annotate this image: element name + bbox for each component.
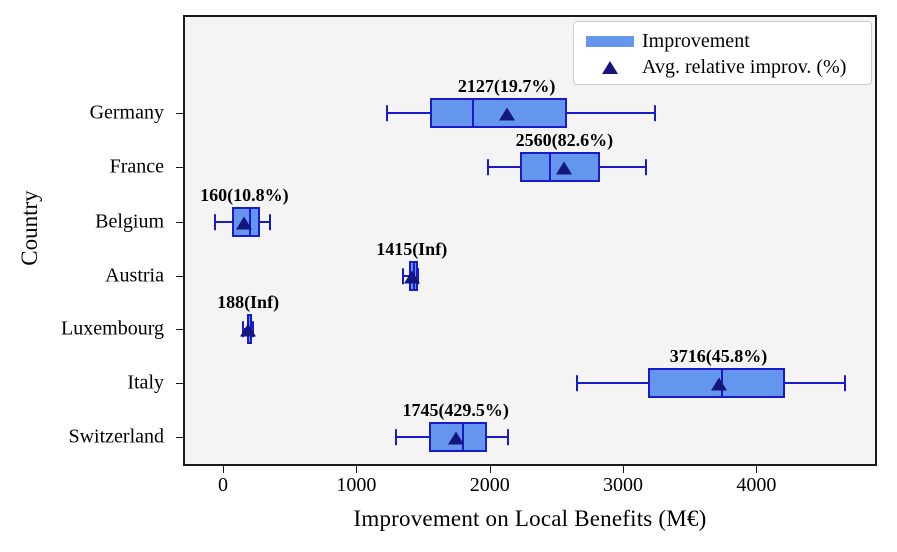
whisker-low-line	[215, 221, 232, 223]
x-tick-label: 3000	[583, 474, 663, 497]
x-tick-label: 1000	[316, 474, 396, 497]
y-tick-label-luxembourg: Luxembourg	[0, 318, 164, 341]
whisker-high-line	[567, 112, 655, 114]
mean-marker-triangle-icon	[236, 217, 252, 230]
whisker-low-cap	[386, 105, 388, 121]
whisker-high-line	[600, 166, 646, 168]
y-tick	[176, 437, 183, 438]
legend-label-avg-relative-improv: Avg. relative improv. (%)	[642, 56, 846, 79]
mean-marker-triangle-icon	[556, 162, 572, 175]
whisker-low-cap	[214, 214, 216, 230]
legend-label-improvement: Improvement	[642, 30, 750, 53]
mean-marker-triangle-icon	[499, 108, 515, 121]
whisker-low-cap	[576, 375, 578, 391]
y-tick	[176, 276, 183, 277]
box-annotation-luxembourg: 188(Inf)	[118, 292, 378, 313]
x-tick-label: 2000	[450, 474, 530, 497]
box-annotation-switzerland: 1745(429.5%)	[326, 400, 586, 421]
x-tick-label: 0	[183, 474, 263, 497]
mean-marker-triangle-icon	[240, 324, 256, 337]
legend-item-improvement: Improvement	[586, 28, 861, 54]
legend-bar-swatch-icon	[586, 36, 634, 47]
whisker-high-line	[487, 436, 508, 438]
whisker-high-cap	[654, 105, 656, 121]
whisker-low-cap	[395, 429, 397, 445]
median-line	[472, 98, 474, 128]
box-annotation-belgium: 160(10.8%)	[114, 185, 374, 206]
box-annotation-austria: 1415(Inf)	[282, 239, 542, 260]
whisker-low-line	[387, 112, 430, 114]
x-tick	[756, 466, 757, 473]
x-tick	[356, 466, 357, 473]
x-tick	[490, 466, 491, 473]
y-tick-label-germany: Germany	[0, 102, 164, 125]
y-tick	[176, 222, 183, 223]
y-axis-label: Country	[17, 148, 43, 308]
y-tick	[176, 167, 183, 168]
y-tick-label-italy: Italy	[0, 372, 164, 395]
whisker-low-line	[488, 166, 520, 168]
whisker-low-line	[577, 382, 648, 384]
chart-legend: Improvement Avg. relative improv. (%)	[573, 21, 872, 85]
whisker-low-cap	[487, 159, 489, 175]
whisker-high-cap	[269, 214, 271, 230]
y-tick	[176, 113, 183, 114]
x-tick-label: 4000	[716, 474, 796, 497]
mean-marker-triangle-icon	[711, 378, 727, 391]
y-tick-label-switzerland: Switzerland	[0, 426, 164, 449]
x-tick	[223, 466, 224, 473]
mean-marker-triangle-icon	[448, 432, 464, 445]
whisker-high-cap	[645, 159, 647, 175]
box-annotation-france: 2560(82.6%)	[434, 130, 694, 151]
mean-marker-triangle-icon	[404, 271, 420, 284]
legend-item-avg-relative-improv: Avg. relative improv. (%)	[586, 54, 861, 80]
box-annotation-italy: 3716(45.8%)	[589, 346, 849, 367]
whisker-high-cap	[844, 375, 846, 391]
y-tick	[176, 383, 183, 384]
y-tick	[176, 329, 183, 330]
whisker-high-cap	[507, 429, 509, 445]
x-tick	[623, 466, 624, 473]
legend-triangle-swatch-icon	[586, 61, 634, 74]
whisker-low-line	[396, 436, 429, 438]
median-line	[549, 152, 551, 182]
x-axis-label: Improvement on Local Benefits (M€)	[183, 506, 877, 532]
boxplot-figure: 01000200030004000GermanyFranceBelgiumAus…	[0, 0, 897, 552]
whisker-high-line	[785, 382, 845, 384]
